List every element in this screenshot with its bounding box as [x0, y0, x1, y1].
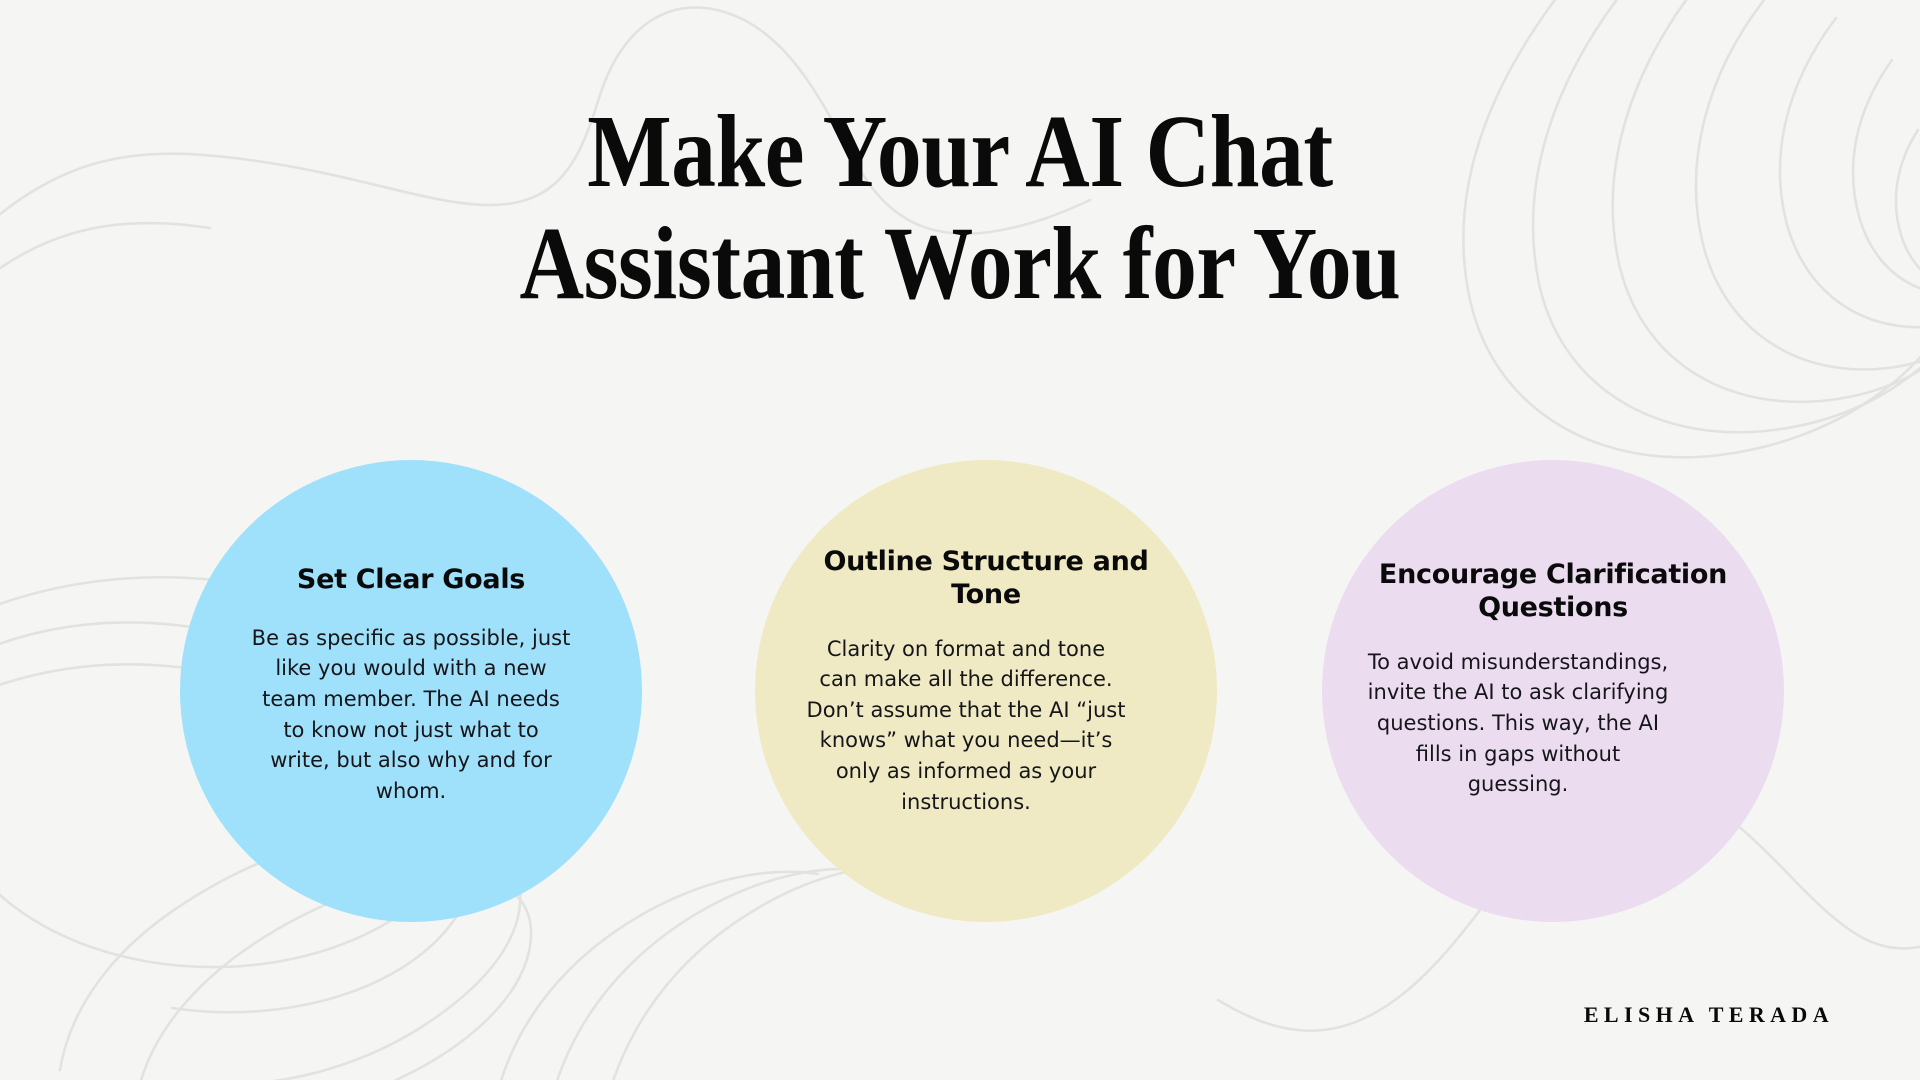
tip-heading: Encourage Clarification Questions — [1363, 558, 1743, 625]
tip-circle-set-clear-goals: Set Clear Goals Be as specific as possib… — [180, 460, 642, 922]
tip-content: Encourage Clarification Questions To avo… — [1363, 558, 1743, 800]
tip-circle-outline-structure-and-tone: Outline Structure and Tone Clarity on fo… — [755, 460, 1217, 922]
page-title-line-2: Assistant Work for You — [134, 208, 1785, 320]
tip-heading: Set Clear Goals — [251, 563, 571, 596]
tip-content: Set Clear Goals Be as specific as possib… — [251, 563, 571, 806]
tip-heading: Outline Structure and Tone — [806, 545, 1166, 612]
tip-body: Be as specific as possible, just like yo… — [251, 623, 571, 807]
page-title: Make Your AI Chat Assistant Work for You — [0, 96, 1920, 321]
page-title-line-1: Make Your AI Chat — [134, 96, 1785, 208]
author-signature: ELISHA TERADA — [1584, 1002, 1834, 1028]
slide-canvas: Make Your AI Chat Assistant Work for You… — [0, 0, 1920, 1080]
tips-circle-row: Set Clear Goals Be as specific as possib… — [0, 460, 1920, 930]
tip-body: To avoid misunderstandings, invite the A… — [1363, 647, 1673, 800]
tip-circle-encourage-clarification-questions: Encourage Clarification Questions To avo… — [1322, 460, 1784, 922]
tip-body: Clarity on format and tone can make all … — [806, 634, 1126, 818]
tip-content: Outline Structure and Tone Clarity on fo… — [806, 545, 1166, 818]
